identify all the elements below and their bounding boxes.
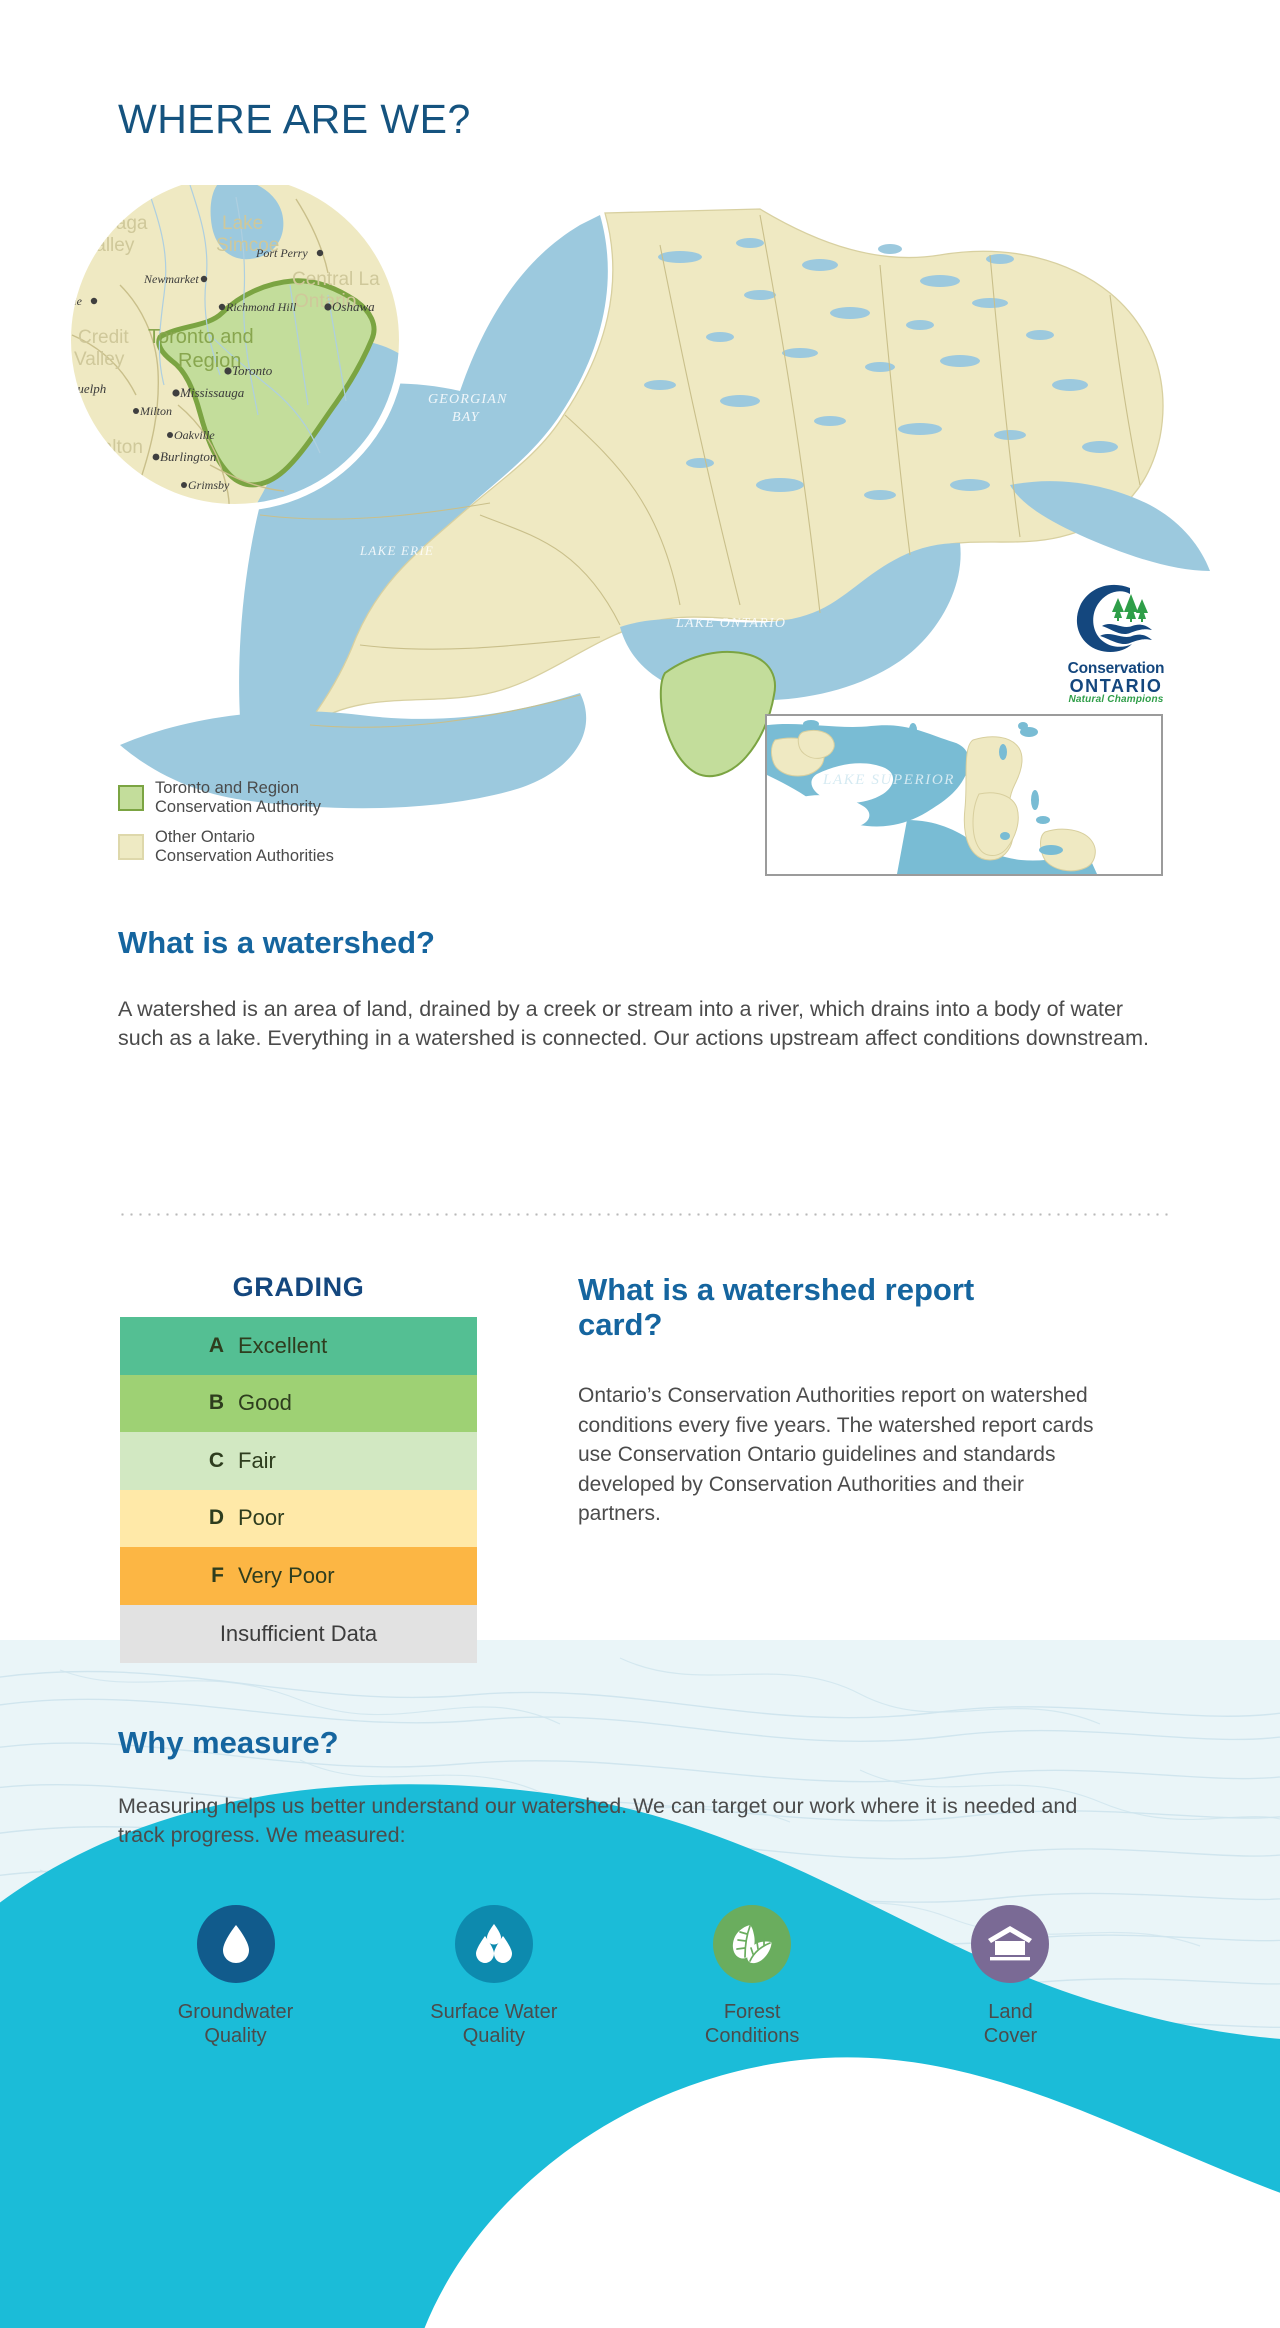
grade-label-d: Poor xyxy=(238,1505,284,1531)
svg-text:Newmarket: Newmarket xyxy=(143,272,199,286)
svg-text:Valley: Valley xyxy=(74,349,125,370)
house-glyph xyxy=(987,1923,1033,1965)
grade-letter-d: D xyxy=(120,1506,238,1530)
grade-letter-c: C xyxy=(120,1449,238,1473)
grade-label-a: Excellent xyxy=(238,1333,327,1359)
measure-label-forest-1: Forest xyxy=(635,2000,870,2024)
svg-text:Central La: Central La xyxy=(292,269,380,290)
report-card-heading: What is a watershed report card? xyxy=(578,1272,1048,1342)
measure-label-surface-2: Quality xyxy=(376,2024,611,2048)
grading-title: GRADING xyxy=(120,1272,477,1303)
lake-superior-inset-map: LAKE SUPERIOR xyxy=(765,714,1163,876)
svg-text:Richmond Hill: Richmond Hill xyxy=(225,300,297,314)
inset-map-svg: LAKE SUPERIOR xyxy=(767,716,1161,874)
trca-highlight-region xyxy=(661,652,775,776)
measure-label-surface-1: Surface Water xyxy=(376,2000,611,2024)
three-droplets-glyph xyxy=(472,1922,516,1966)
svg-text:Milton: Milton xyxy=(139,404,172,418)
grade-letter-a: A xyxy=(120,1334,238,1358)
conservation-ontario-logo: Conservation ONTARIO Natural Champions xyxy=(1055,580,1177,705)
leaves-glyph xyxy=(729,1922,775,1966)
legend-trca-line2: Conservation Authority xyxy=(155,798,321,817)
watershed-body-wrap: A watershed is an area of land, drained … xyxy=(118,995,1158,1053)
logo-line-2: ONTARIO xyxy=(1055,677,1177,695)
leaves-icon xyxy=(713,1905,791,1983)
water-droplet-icon xyxy=(197,1905,275,1983)
why-measure-body-wrap: Measuring helps us better understand our… xyxy=(118,1792,1128,1850)
measure-list: Groundwater Quality Surface Water Qualit… xyxy=(118,1905,1128,2048)
conservation-ontario-mark xyxy=(1068,580,1164,654)
svg-text:gus: gus xyxy=(60,350,65,364)
grade-row-b: B Good xyxy=(120,1375,477,1433)
grade-letter-b: B xyxy=(120,1391,238,1415)
svg-text:LAKE ONTARIO: LAKE ONTARIO xyxy=(675,616,786,631)
grade-label-b: Good xyxy=(238,1390,292,1416)
svg-text:Oshawa: Oshawa xyxy=(332,299,375,314)
logo-line-1: Conservation xyxy=(1055,661,1177,677)
three-droplets-icon xyxy=(455,1905,533,1983)
why-measure-body: Measuring helps us better understand our… xyxy=(118,1792,1128,1850)
section-divider xyxy=(118,1213,1168,1216)
map-legend: Toronto and Region Conservation Authorit… xyxy=(118,779,334,876)
page-title: WHERE ARE WE? xyxy=(118,96,471,143)
legend-item-other: Other Ontario Conservation Authorities xyxy=(118,828,334,867)
svg-text:Oakville: Oakville xyxy=(174,428,215,442)
grade-row-c: C Fair xyxy=(120,1432,477,1490)
svg-text:GEORGIAN: GEORGIAN xyxy=(428,392,508,407)
inset-label: LAKE SUPERIOR xyxy=(822,772,955,788)
svg-text:Port Perry: Port Perry xyxy=(255,246,308,260)
grade-row-insufficient-data: Insufficient Data xyxy=(120,1605,477,1663)
svg-text:Mississauga: Mississauga xyxy=(179,385,245,400)
house-icon xyxy=(971,1905,1049,1983)
watershed-heading: What is a watershed? xyxy=(118,925,435,960)
grading-table: GRADING A Excellent B Good C Fair D Poor… xyxy=(120,1272,477,1663)
grade-letter-f: F xyxy=(120,1564,238,1588)
measure-forest-conditions: Forest Conditions xyxy=(635,1905,870,2048)
svg-text:Lake: Lake xyxy=(222,213,263,234)
grade-label-c: Fair xyxy=(238,1448,276,1474)
svg-text:Toronto: Toronto xyxy=(232,363,273,378)
measure-label-land-1: Land xyxy=(893,2000,1128,2024)
infographic-page: WHERE ARE WE? xyxy=(0,0,1280,2328)
grade-row-f: F Very Poor xyxy=(120,1547,477,1605)
legend-swatch-trca xyxy=(118,785,144,811)
svg-text:Grimsby: Grimsby xyxy=(188,478,230,492)
measure-land-cover: Land Cover xyxy=(893,1905,1128,2048)
why-measure-heading: Why measure? xyxy=(118,1725,339,1760)
grade-row-a: A Excellent xyxy=(120,1317,477,1375)
svg-text:BAY: BAY xyxy=(452,410,481,425)
measure-groundwater-quality: Groundwater Quality xyxy=(118,1905,353,2048)
measure-label-land-2: Cover xyxy=(893,2024,1128,2048)
svg-text:Burlington: Burlington xyxy=(160,449,216,464)
legend-other-line1: Other Ontario xyxy=(155,828,334,847)
svg-text:Credit: Credit xyxy=(78,327,129,348)
grade-label-f: Very Poor xyxy=(238,1563,335,1589)
grade-row-d: D Poor xyxy=(120,1490,477,1548)
measure-label-groundwater-2: Quality xyxy=(118,2024,353,2048)
measure-surface-water-quality: Surface Water Quality xyxy=(376,1905,611,2048)
measure-label-forest-2: Conditions xyxy=(635,2024,870,2048)
tree-icons xyxy=(1112,594,1148,622)
report-card-body-wrap: Ontario’s Conservation Authorities repor… xyxy=(578,1381,1108,1529)
wave-icons xyxy=(1100,624,1152,644)
legend-item-trca: Toronto and Region Conservation Authorit… xyxy=(118,779,334,818)
droplet-glyph xyxy=(219,1923,253,1965)
report-card-body: Ontario’s Conservation Authorities repor… xyxy=(578,1381,1108,1529)
logo-line-3: Natural Champions xyxy=(1055,695,1177,705)
legend-trca-line1: Toronto and Region xyxy=(155,779,321,798)
svg-text:Toronto and: Toronto and xyxy=(148,326,254,348)
measure-label-groundwater-1: Groundwater xyxy=(118,2000,353,2024)
watershed-body: A watershed is an area of land, drained … xyxy=(118,995,1158,1053)
legend-other-line2: Conservation Authorities xyxy=(155,847,334,866)
legend-swatch-other xyxy=(118,834,144,860)
svg-text:LAKE ERIE: LAKE ERIE xyxy=(359,543,434,558)
